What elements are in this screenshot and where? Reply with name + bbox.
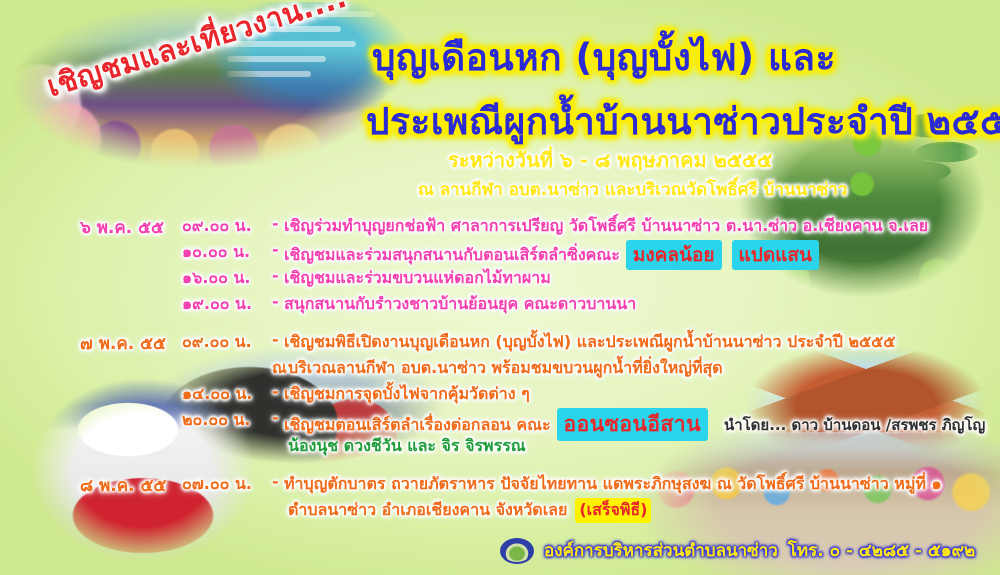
schedule-description-text: สนุกสนานกับรำวงชาวบ้านย้อนยุค คณะดาวบานน… (284, 294, 636, 313)
festival-poster: เชิญชมและเที่ยวงาน.... บุญเดือนหก (บุญบั… (0, 0, 1000, 575)
footer-organization: องค์การบริหารส่วนตำบลนาซ่าว (544, 537, 778, 564)
schedule-description: ตำบลนาซ่าว อำเภอเชียงคาน จังหวัดเลย(เสร็… (288, 498, 651, 523)
schedule-time: ๑๐.๐๐ น. (182, 240, 250, 265)
schedule-dash: - (272, 214, 279, 233)
schedule-time: ๑๙.๐๐ น. (182, 292, 252, 317)
schedule-row: ๑๐.๐๐ น.-เชิญชมและร่วมสนุกสนานกับตอนเสิร… (0, 240, 1000, 266)
schedule-dash: - (272, 266, 279, 285)
schedule-date: ๖ พ.ค. ๕๕ (80, 214, 164, 241)
poster-subtitle-venue: ณ ลานกีฬา อบต.นาซ่าว และบริเวณวัดโพธิ์ศร… (418, 176, 847, 203)
schedule-description-text: เชิญชมการจุดบั้งไฟจากคุ้มวัดต่าง ๆ (284, 384, 530, 403)
schedule-description-text: เชิญร่วมทำบุญยกช่อฟ้า ศาลาการเปรียญ วัดโ… (284, 216, 928, 235)
schedule-dash: - (272, 240, 279, 259)
schedule-time: ๐๙.๐๐ น. (182, 330, 252, 355)
schedule-dash: - (272, 472, 279, 491)
schedule-closing-badge: (เสร็จพิธี) (575, 498, 651, 523)
schedule-description: บริเวณลานกีฬา อบต.นาซ่าว พร้อมชมขบวนผูกน… (288, 356, 723, 381)
schedule-description-text: เชิญชมพิธีเปิดงานบุญเดือนหก (บุญบั้งไฟ) … (284, 332, 895, 351)
schedule-date: ๗ พ.ค. ๕๕ (80, 330, 166, 357)
schedule-description: สนุกสนานกับรำวงชาวบ้านย้อนยุค คณะดาวบานน… (284, 292, 636, 317)
schedule-description-text: ตำบลนาซ่าว อำเภอเชียงคาน จังหวัดเลย (288, 500, 567, 519)
schedule-list: ๖ พ.ค. ๕๕๐๙.๐๐ น.-เชิญร่วมทำบุญยกช่อฟ้า … (0, 214, 1000, 524)
schedule-description-text: เชิญชมตอนเสิร์ตลำเรื่องต่อกลอน คณะ (284, 415, 551, 434)
schedule-row: ๑๔.๐๐ น.-เชิญชมการจุดบั้งไฟจากคุ้มวัดต่า… (0, 382, 1000, 408)
schedule-description: เชิญร่วมทำบุญยกช่อฟ้า ศาลาการเปรียญ วัดโ… (284, 214, 928, 239)
schedule-time: ๑๖.๐๐ น. (182, 266, 251, 291)
poster-title-line-1: บุญเดือนหก (บุญบั้งไฟ) และ (372, 28, 836, 87)
schedule-row: ณบริเวณลานกีฬา อบต.นาซ่าว พร้อมชมขบวนผูก… (0, 356, 1000, 382)
schedule-dash: ณ (272, 356, 287, 381)
schedule-row: ๑๖.๐๐ น.-เชิญชมและร่วมขบวนแห่ดอกไม้ทาผาม (0, 266, 1000, 292)
schedule-time: ๑๔.๐๐ น. (182, 382, 252, 407)
schedule-description: เชิญชมการจุดบั้งไฟจากคุ้มวัดต่าง ๆ (284, 382, 530, 407)
schedule-description-text: น้องนุช ดวงชีวัน และ จิร จิรพรรณ (288, 436, 526, 455)
schedule-dash: - (272, 292, 279, 311)
footer: องค์การบริหารส่วนตำบลนาซ่าว โทร. ๐ - ๔๒๘… (500, 537, 975, 564)
schedule-time: ๐๗.๐๐ น. (182, 472, 252, 497)
poster-title-line-2: ประเพณีผูกน้ำบ้านนาซ่าวประจำปี ๒๕๕๕ (366, 92, 1000, 151)
schedule-row: ๖ พ.ค. ๕๕๐๙.๐๐ น.-เชิญร่วมทำบุญยกช่อฟ้า … (0, 214, 1000, 240)
schedule-description: ทำบุญตักบาตร ถวายภัตราหาร ปัจจัยไทยทาน แ… (284, 472, 942, 497)
schedule-description-text: บริเวณลานกีฬา อบต.นาซ่าว พร้อมชมขบวนผูกน… (288, 358, 723, 377)
schedule-time: ๐๙.๐๐ น. (182, 214, 252, 239)
schedule-description-text: เชิญชมและร่วมสนุกสนานกับตอนเสิร์ตลำซิ่งค… (284, 245, 620, 264)
schedule-dash: - (272, 382, 279, 401)
schedule-row: ตำบลนาซ่าว อำเภอเชียงคาน จังหวัดเลย(เสร็… (0, 498, 1000, 524)
schedule-time: ๒๐.๐๐ น. (182, 408, 251, 433)
schedule-dash: - (272, 408, 279, 427)
schedule-description: เชิญชมพิธีเปิดงานบุญเดือนหก (บุญบั้งไฟ) … (284, 330, 895, 355)
schedule-description-text: ทำบุญตักบาตร ถวายภัตราหาร ปัจจัยไทยทาน แ… (284, 474, 942, 493)
schedule-description-text: เชิญชมและร่วมขบวนแห่ดอกไม้ทาผาม (284, 268, 551, 287)
schedule-row: ๒๐.๐๐ น.-เชิญชมตอนเสิร์ตลำเรื่องต่อกลอน … (0, 408, 1000, 434)
official-seal-icon (500, 538, 534, 564)
schedule-row: ๑๙.๐๐ น.-สนุกสนานกับรำวงชาวบ้านย้อนยุค ค… (0, 292, 1000, 318)
schedule-lead-performers: นำโดย... ดาว บ้านดอน /สรพชร ภิญโญ (724, 416, 985, 434)
schedule-date: ๘ พ.ค. ๕๕ (80, 472, 166, 499)
schedule-row: ๗ พ.ค. ๕๕๐๙.๐๐ น.-เชิญชมพิธีเปิดงานบุญเด… (0, 330, 1000, 356)
schedule-description: น้องนุช ดวงชีวัน และ จิร จิรพรรณ (288, 434, 526, 459)
schedule-dash: - (272, 330, 279, 349)
schedule-row: น้องนุช ดวงชีวัน และ จิร จิรพรรณ (0, 434, 1000, 460)
schedule-description: เชิญชมและร่วมขบวนแห่ดอกไม้ทาผาม (284, 266, 551, 291)
footer-phone: โทร. ๐ - ๔๒๘๕ - ๕๑๙๒ (788, 537, 975, 564)
schedule-row: ๘ พ.ค. ๕๕๐๗.๐๐ น.-ทำบุญตักบาตร ถวายภัตรา… (0, 472, 1000, 498)
